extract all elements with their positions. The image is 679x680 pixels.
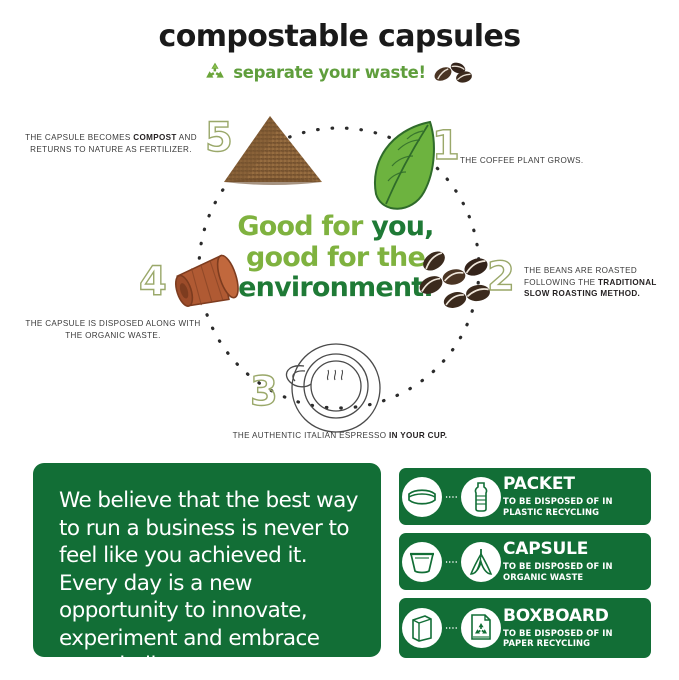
paper-recycling-icon <box>461 608 501 648</box>
disposal-card-capsule[interactable]: CAPSULE TO BE DISPOSED OF IN ORGANIC WAS… <box>399 533 651 590</box>
step-caption-5: THE CAPSULE BECOMES COMPOST AND RETURNS … <box>16 132 206 155</box>
page-title: compostable capsules <box>0 22 679 52</box>
packet-text: PACKET TO BE DISPOSED OF IN PLASTIC RECY… <box>503 476 651 517</box>
packet-subtitle: TO BE DISPOSED OF IN PLASTIC RECYCLING <box>503 496 643 517</box>
boxboard-text: BOXBOARD TO BE DISPOSED OF IN PAPER RECY… <box>503 608 651 649</box>
quote-panel: We believe that the best way to run a bu… <box>33 463 381 657</box>
packet-icons <box>399 468 503 525</box>
packet-sub-plain: TO BE DISPOSED OF IN <box>503 496 613 506</box>
step-number-3: 3 <box>250 372 278 412</box>
disposal-card-boxboard[interactable]: BOXBOARD TO BE DISPOSED OF IN PAPER RECY… <box>399 598 651 658</box>
boxboard-sub-bold: PAPER RECYCLING <box>503 638 590 648</box>
step-caption-3-text: THE AUTHENTIC ITALIAN ESPRESSO <box>233 431 389 440</box>
boxboard-title: BOXBOARD <box>503 608 643 625</box>
dot-connector <box>445 627 458 629</box>
plastic-bottle-icon <box>461 477 501 517</box>
slogan-line1-light: Good for <box>237 211 371 242</box>
step-number-1: 1 <box>432 126 460 166</box>
packet-sub-bold: PLASTIC RECYCLING <box>503 507 599 517</box>
espresso-cup-icon <box>278 340 384 436</box>
capsule-text: CAPSULE TO BE DISPOSED OF IN ORGANIC WAS… <box>503 541 651 582</box>
dot-connector <box>445 496 458 498</box>
step-caption-3: THE AUTHENTIC ITALIAN ESPRESSO IN YOUR C… <box>190 430 490 442</box>
infographic-canvas: compostable capsules separate your waste… <box>0 0 679 679</box>
step-caption-3-bold: IN YOUR CUP. <box>389 431 447 440</box>
recycle-icon <box>204 61 226 83</box>
boxboard-subtitle: TO BE DISPOSED OF IN PAPER RECYCLING <box>503 628 643 649</box>
coffee-capsule-icon <box>163 248 247 320</box>
step-caption-4: THE CAPSULE IS DISPOSED ALONG WITH THE O… <box>18 318 208 341</box>
quote-text: We believe that the best way to run a bu… <box>33 463 381 680</box>
capsule-icons <box>399 533 503 590</box>
step-caption-4-text: THE CAPSULE IS DISPOSED ALONG WITH THE O… <box>25 319 200 340</box>
header-subline: separate your waste! <box>0 59 679 85</box>
capsule-sub-plain: TO BE DISPOSED OF IN <box>503 561 613 571</box>
step-caption-1-text: THE COFFEE PLANT GROWS. <box>460 156 583 165</box>
lifecycle-diagram: Good for you, good for the environment. <box>0 100 679 455</box>
capsule-sub-bold: ORGANIC WASTE <box>503 572 583 582</box>
capsule-subtitle: TO BE DISPOSED OF IN ORGANIC WASTE <box>503 561 643 582</box>
step-caption-5-text-a: THE CAPSULE BECOMES <box>25 133 133 142</box>
boxboard-carton-icon <box>402 608 442 648</box>
dot-connector <box>445 561 458 563</box>
coffee-beans-icon <box>433 59 475 85</box>
banana-peel-icon <box>461 542 501 582</box>
slogan-line2: good for the <box>246 242 425 273</box>
step-caption-2: THE BEANS ARE ROASTED FOLLOWING THE TRAD… <box>524 265 674 300</box>
coffee-capsule-icon <box>402 542 442 582</box>
leaf-icon <box>368 118 440 218</box>
coffee-packet-icon <box>402 477 442 517</box>
slogan-line3: environment. <box>238 272 433 303</box>
step-caption-5-bold: COMPOST <box>133 133 176 142</box>
capsule-title: CAPSULE <box>503 541 643 558</box>
step-number-5: 5 <box>205 118 233 158</box>
boxboard-sub-plain: TO BE DISPOSED OF IN <box>503 628 613 638</box>
header-subtitle: separate your waste! <box>233 63 426 82</box>
boxboard-icons <box>399 598 503 658</box>
compost-pile-icon <box>218 110 330 190</box>
center-slogan: Good for you, good for the environment. <box>228 212 443 304</box>
disposal-card-packet[interactable]: PACKET TO BE DISPOSED OF IN PLASTIC RECY… <box>399 468 651 525</box>
packet-title: PACKET <box>503 476 643 493</box>
header: compostable capsules separate your waste… <box>0 22 679 85</box>
step-number-2: 2 <box>487 257 515 297</box>
step-caption-1: THE COFFEE PLANT GROWS. <box>460 155 660 167</box>
step-number-4: 4 <box>139 262 167 302</box>
